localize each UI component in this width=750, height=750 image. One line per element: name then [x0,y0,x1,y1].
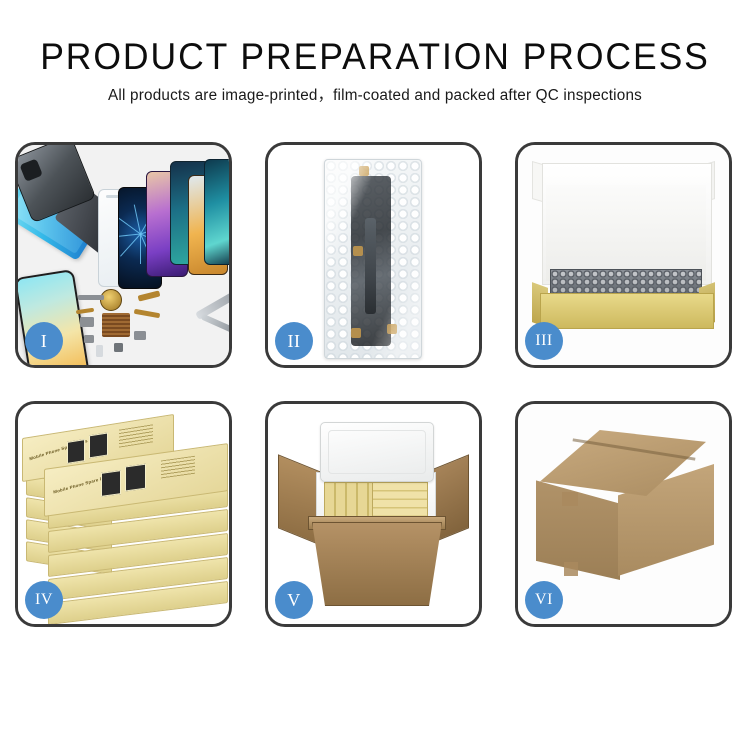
speaker-coil-part [100,289,122,311]
box-b-window-2 [125,464,146,492]
kraft-box-front [540,293,714,329]
header: PRODUCT PREPARATION PROCESS All products… [0,34,750,106]
box-a-spec-lines [119,424,153,447]
box-a-window-1 [67,439,85,464]
process-step-2: II [265,142,482,368]
box-b-spec-lines [161,456,195,479]
process-row-top: I II [15,142,735,368]
process-step-3: III [515,142,732,368]
bubble-wrap-bag [324,159,422,359]
process-step-6: VI [515,401,732,627]
metal-tool [195,290,229,320]
chip-part-2 [80,317,94,327]
carton-tape-lower [564,562,578,576]
carton-tape-upper [562,492,578,506]
chip-part-6 [96,345,103,357]
page-title: PRODUCT PREPARATION PROCESS [15,34,735,80]
step-5-badge: V [275,581,313,619]
flex-cable-2 [134,309,160,318]
foam-cooler-lid [320,422,434,482]
teal-phone-b [204,159,229,265]
box-inner-wall [546,185,706,281]
step-3-badge: III [525,322,563,360]
chip-part-4 [134,331,146,340]
process-step-5: V [265,401,482,627]
box-a-window-2 [89,432,108,458]
process-row-bottom: Mobile Phone Spare Parts Mobile Phone Sp… [15,401,735,627]
circuit-board-part [102,313,130,337]
process-step-grid: I II [15,142,735,627]
process-step-1: I [15,142,232,368]
chip-part-3 [84,335,94,343]
step-4-badge: IV [25,581,63,619]
page-subtitle: All products are image-printed，film-coat… [6,86,745,106]
chip-part-5 [114,343,123,352]
flex-cable-1 [138,290,161,301]
step-2-badge: II [275,322,313,360]
box-b-window-1 [101,470,121,497]
carton-body [312,522,442,606]
step-1-badge: I [25,322,63,360]
product-preparation-infographic: PRODUCT PREPARATION PROCESS All products… [0,0,750,750]
step-6-badge: VI [525,581,563,619]
tweezers-tool [200,314,229,335]
process-step-4: Mobile Phone Spare Parts Mobile Phone Sp… [15,401,232,627]
chip-part-1 [78,295,104,300]
bag-sheen [325,160,421,358]
